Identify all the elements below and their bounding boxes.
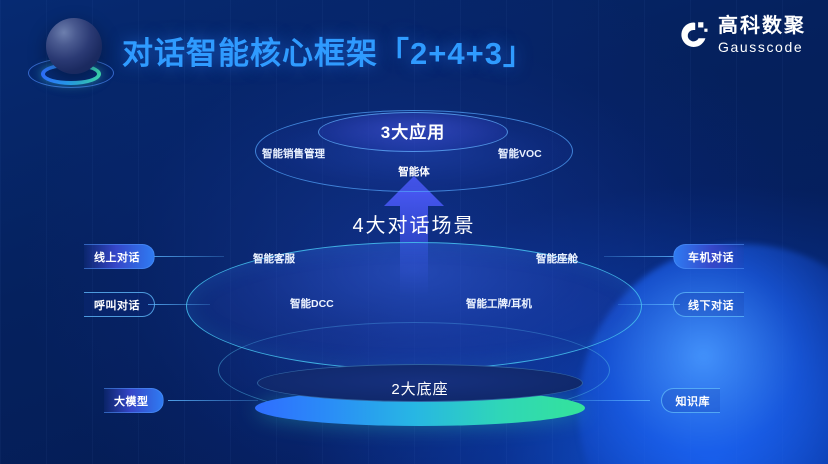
side-label-offline-dialog[interactable]: 线下对话 bbox=[673, 292, 744, 317]
side-label-text: 线上对话 bbox=[94, 249, 140, 265]
gausscode-g-mark-icon bbox=[679, 20, 709, 50]
side-label-call-dialog[interactable]: 呼叫对话 bbox=[84, 292, 155, 317]
side-label-knowledge-base[interactable]: 知识库 bbox=[661, 388, 721, 413]
side-label-vehicle-dialog[interactable]: 车机对话 bbox=[673, 244, 744, 269]
connector-online bbox=[148, 256, 224, 257]
brand-name-cn: 高科数聚 bbox=[718, 16, 806, 36]
side-label-large-model[interactable]: 大模型 bbox=[104, 388, 164, 413]
side-label-text: 知识库 bbox=[676, 393, 711, 409]
application-item-voc: 智能VOC bbox=[498, 146, 542, 161]
connector-offline bbox=[618, 304, 680, 305]
brand-text: 高科数聚 Gausscode bbox=[718, 16, 806, 54]
sphere-icon bbox=[46, 18, 102, 74]
scenario-item-kefu: 智能客服 bbox=[253, 251, 295, 266]
application-item-agent: 智能体 bbox=[0, 164, 828, 179]
framework-diagram: 4大对话场景 智能客服 智能座舱 智能DCC 智能工牌/耳机 3大应用 智能销售… bbox=[0, 96, 828, 464]
side-label-text: 大模型 bbox=[114, 393, 149, 409]
scenario-item-cabin: 智能座舱 bbox=[536, 251, 578, 266]
scenarios-title: 4大对话场景 bbox=[0, 209, 828, 238]
slide-header: 对话智能核心框架「2+4+3」 高科数聚 Gausscode bbox=[0, 0, 828, 100]
foundation-title: 2大底座 bbox=[255, 378, 585, 399]
brand-name-en: Gausscode bbox=[718, 40, 806, 54]
scenario-item-badge: 智能工牌/耳机 bbox=[466, 296, 532, 311]
scenario-item-dcc: 智能DCC bbox=[290, 296, 334, 311]
side-label-online-dialog[interactable]: 线上对话 bbox=[84, 244, 155, 269]
sphere-pedestal-icon bbox=[28, 14, 114, 96]
brand-logo: 高科数聚 Gausscode bbox=[679, 16, 806, 54]
applications-title: 3大应用 bbox=[318, 118, 508, 143]
slide-canvas: 对话智能核心框架「2+4+3」 高科数聚 Gausscode bbox=[0, 0, 828, 464]
application-item-sales: 智能销售管理 bbox=[262, 146, 325, 161]
connector-knowledge bbox=[572, 400, 650, 401]
side-label-text: 呼叫对话 bbox=[94, 297, 140, 313]
page-title: 对话智能核心框架「2+4+3」 bbox=[122, 28, 535, 73]
side-label-text: 车机对话 bbox=[688, 249, 734, 265]
connector-call bbox=[148, 304, 210, 305]
side-label-text: 线下对话 bbox=[688, 297, 734, 313]
connector-vehicle bbox=[604, 256, 680, 257]
connector-model bbox=[168, 400, 258, 401]
